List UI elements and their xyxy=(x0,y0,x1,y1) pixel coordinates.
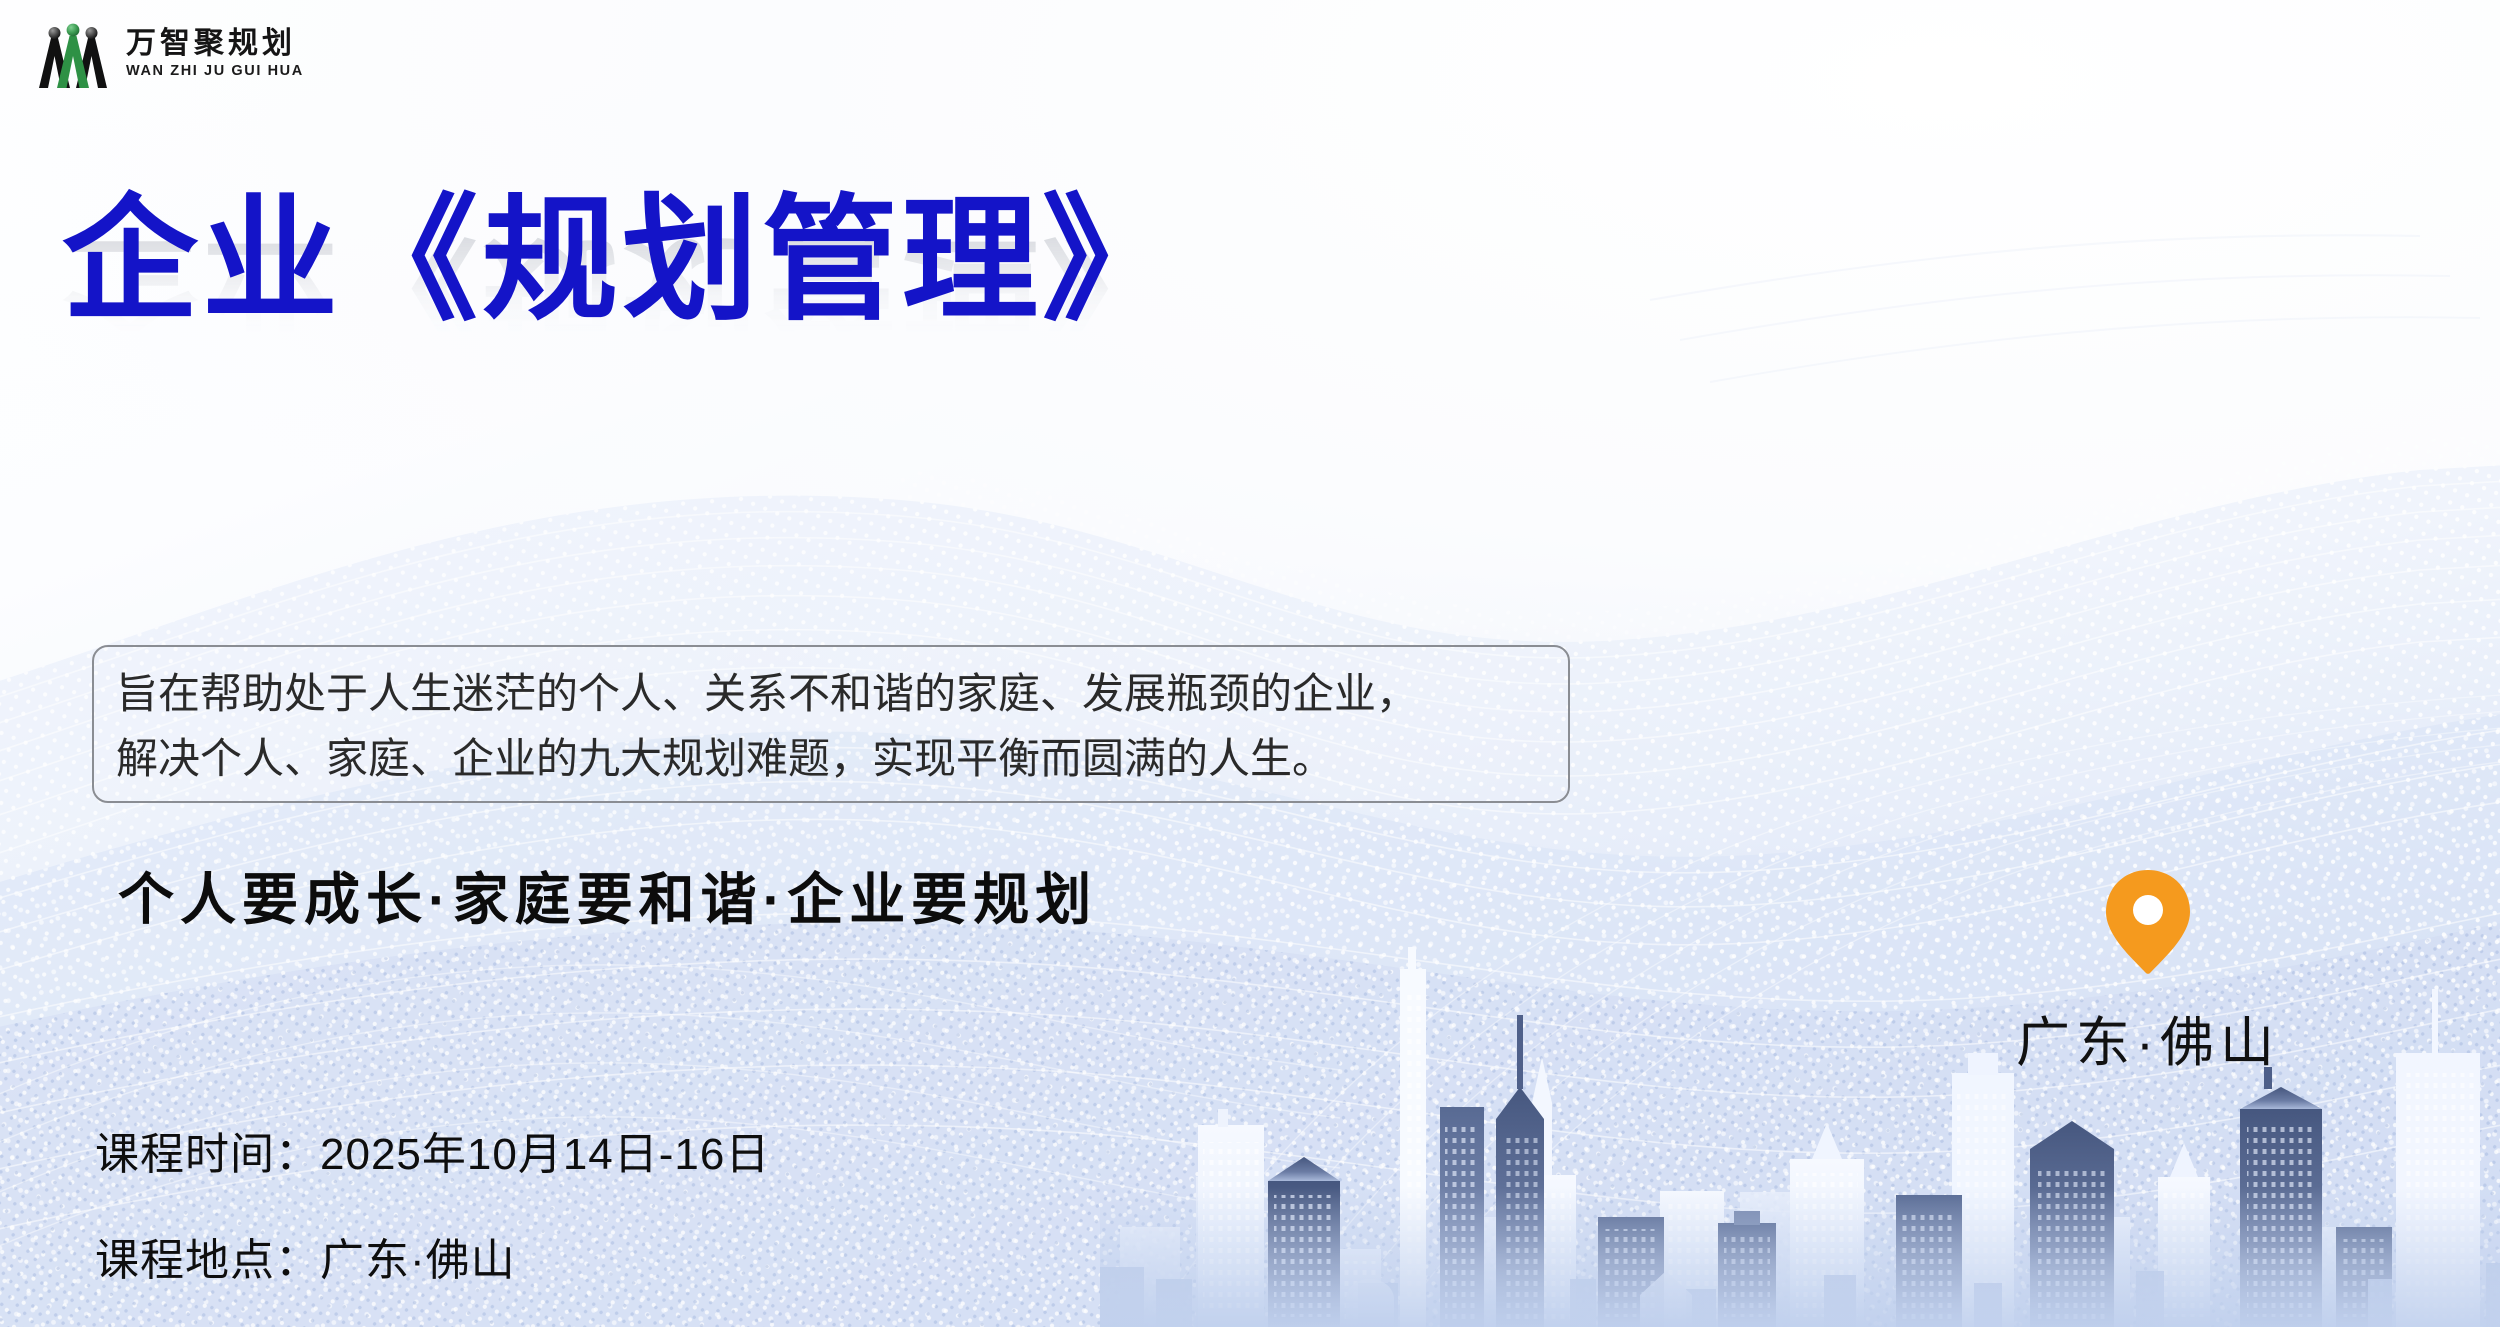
brand-name-cn: 万智聚规划 xyxy=(126,28,304,60)
poster-canvas: 万智聚规划 WAN ZHI JU GUI HUA 企业《规划管理》 企业《规划管… xyxy=(0,0,2500,1327)
course-info-block: 课程时间：2025年10月14日-16日 课程地点：广东·佛山 xyxy=(95,1118,770,1288)
description-line-1: 旨在帮助处于人生迷茫的个人、关系不和谐的家庭、发展瓶颈的企业， xyxy=(116,661,1546,726)
poster-title: 企业《规划管理》 xyxy=(62,192,1182,328)
course-time: 课程时间：2025年10月14日-16日 xyxy=(95,1118,770,1182)
poster-title-block: 企业《规划管理》 企业《规划管理》 xyxy=(62,192,1622,552)
location-block: 广东·佛山 xyxy=(1948,868,2348,1077)
description-box: 旨在帮助处于人生迷茫的个人、关系不和谐的家庭、发展瓶颈的企业， 解决个人、家庭、… xyxy=(92,645,1570,803)
three-people-m-logo-icon xyxy=(34,16,112,90)
brand-logo: 万智聚规划 WAN ZHI JU GUI HUA xyxy=(34,16,304,90)
brand-logo-text: 万智聚规划 WAN ZHI JU GUI HUA xyxy=(126,28,304,79)
map-pin-icon xyxy=(2100,868,2196,976)
course-place: 课程地点：广东·佛山 xyxy=(95,1224,770,1288)
location-label: 广东·佛山 xyxy=(2016,998,2280,1077)
description-line-2: 解决个人、家庭、企业的九大规划难题，实现平衡而圆满的人生。 xyxy=(116,726,1546,791)
brand-name-pinyin: WAN ZHI JU GUI HUA xyxy=(126,64,304,79)
poster-tagline: 个人要成长·家庭要和谐·企业要规划 xyxy=(118,855,1097,936)
